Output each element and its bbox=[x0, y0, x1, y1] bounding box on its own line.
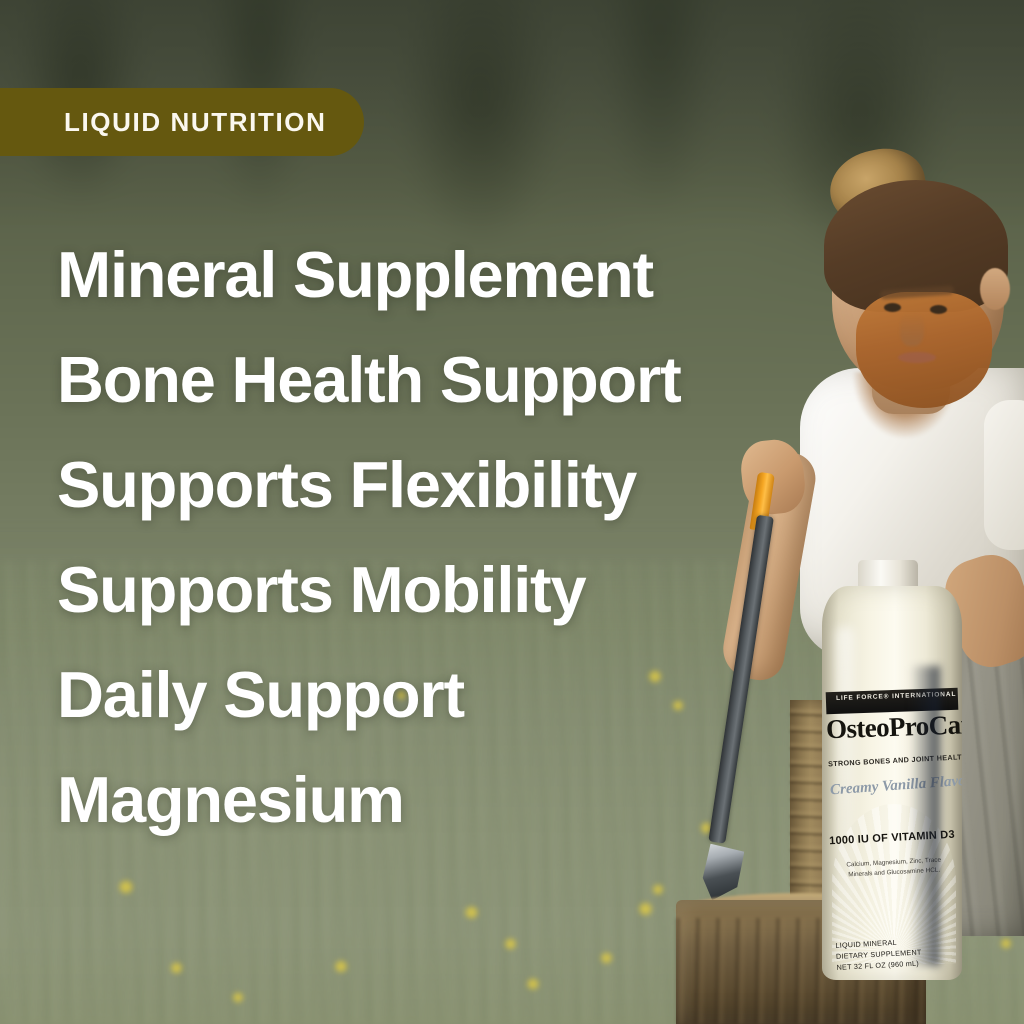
wildflower-icon bbox=[600, 952, 613, 964]
wildflower-icon bbox=[504, 938, 517, 950]
person-mouth bbox=[898, 352, 936, 363]
wildflower-icon bbox=[118, 880, 134, 894]
wildflower-icon bbox=[652, 884, 664, 895]
benefit-list: Mineral Supplement Bone Health Support S… bbox=[57, 222, 817, 852]
benefit-line: Supports Flexibility bbox=[57, 432, 817, 537]
category-badge: LIQUID NUTRITION bbox=[0, 88, 364, 156]
person-shoulder bbox=[984, 400, 1024, 550]
person-ear bbox=[980, 268, 1010, 310]
product-bottle: LIFE FORCE® INTERNATIONAL OsteoProCare® … bbox=[822, 560, 962, 980]
product-promo-image: LIFE FORCE® INTERNATIONAL OsteoProCare® … bbox=[0, 0, 1024, 1024]
wildflower-icon bbox=[170, 962, 183, 974]
benefit-line: Magnesium bbox=[57, 747, 817, 852]
wildflower-icon bbox=[464, 906, 479, 919]
wildflower-icon bbox=[638, 902, 653, 916]
benefit-line: Mineral Supplement bbox=[57, 222, 817, 327]
benefit-line: Bone Health Support bbox=[57, 327, 817, 432]
wildflower-icon bbox=[232, 992, 244, 1003]
benefit-line: Supports Mobility bbox=[57, 537, 817, 642]
wildflower-icon bbox=[1000, 938, 1012, 949]
person-eye-left bbox=[884, 303, 901, 312]
person-eye-right bbox=[930, 305, 947, 314]
category-badge-label: LIQUID NUTRITION bbox=[64, 109, 326, 135]
bottle-shadow-edge bbox=[910, 666, 940, 966]
person-beard bbox=[856, 292, 992, 408]
person-nose bbox=[900, 312, 924, 346]
benefit-line: Daily Support bbox=[57, 642, 817, 747]
bottle-body: LIFE FORCE® INTERNATIONAL OsteoProCare® … bbox=[822, 586, 962, 980]
label-product-name-text: OsteoProCare bbox=[825, 709, 962, 744]
wildflower-icon bbox=[334, 960, 348, 973]
wildflower-icon bbox=[526, 978, 540, 990]
